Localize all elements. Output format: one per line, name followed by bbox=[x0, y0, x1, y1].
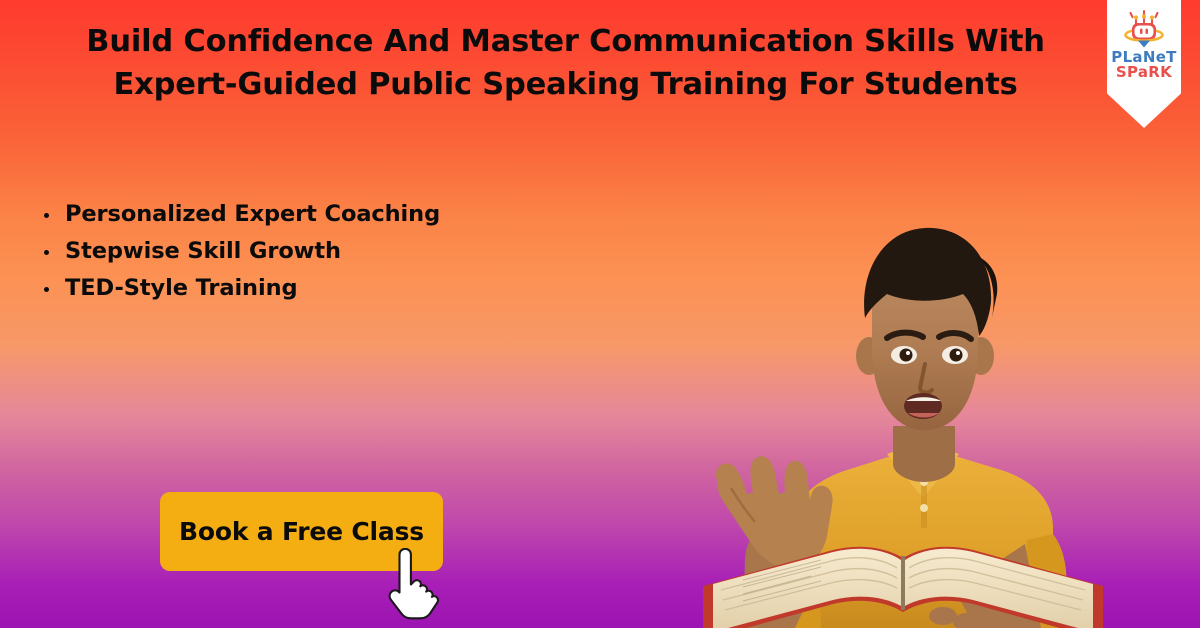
brand-wordmark: PLaNeT SPaRK bbox=[1111, 50, 1176, 80]
list-item: TED-Style Training bbox=[38, 277, 440, 300]
brand-logo: PLaNeT SPaRK bbox=[1107, 0, 1181, 128]
promo-banner: Build Confidence And Master Communicatio… bbox=[0, 0, 1200, 628]
planetspark-robot-mascot-icon bbox=[1122, 9, 1166, 49]
page-title: Build Confidence And Master Communicatio… bbox=[28, 20, 1103, 106]
book-free-class-button[interactable]: Book a Free Class bbox=[160, 492, 443, 571]
list-item: Stepwise Skill Growth bbox=[38, 240, 440, 263]
feature-list: Personalized Expert Coaching Stepwise Sk… bbox=[38, 203, 440, 314]
brand-word-spark: SPaRK bbox=[1111, 65, 1176, 80]
student-speaking-photo bbox=[625, 198, 1200, 628]
list-item: Personalized Expert Coaching bbox=[38, 203, 440, 226]
